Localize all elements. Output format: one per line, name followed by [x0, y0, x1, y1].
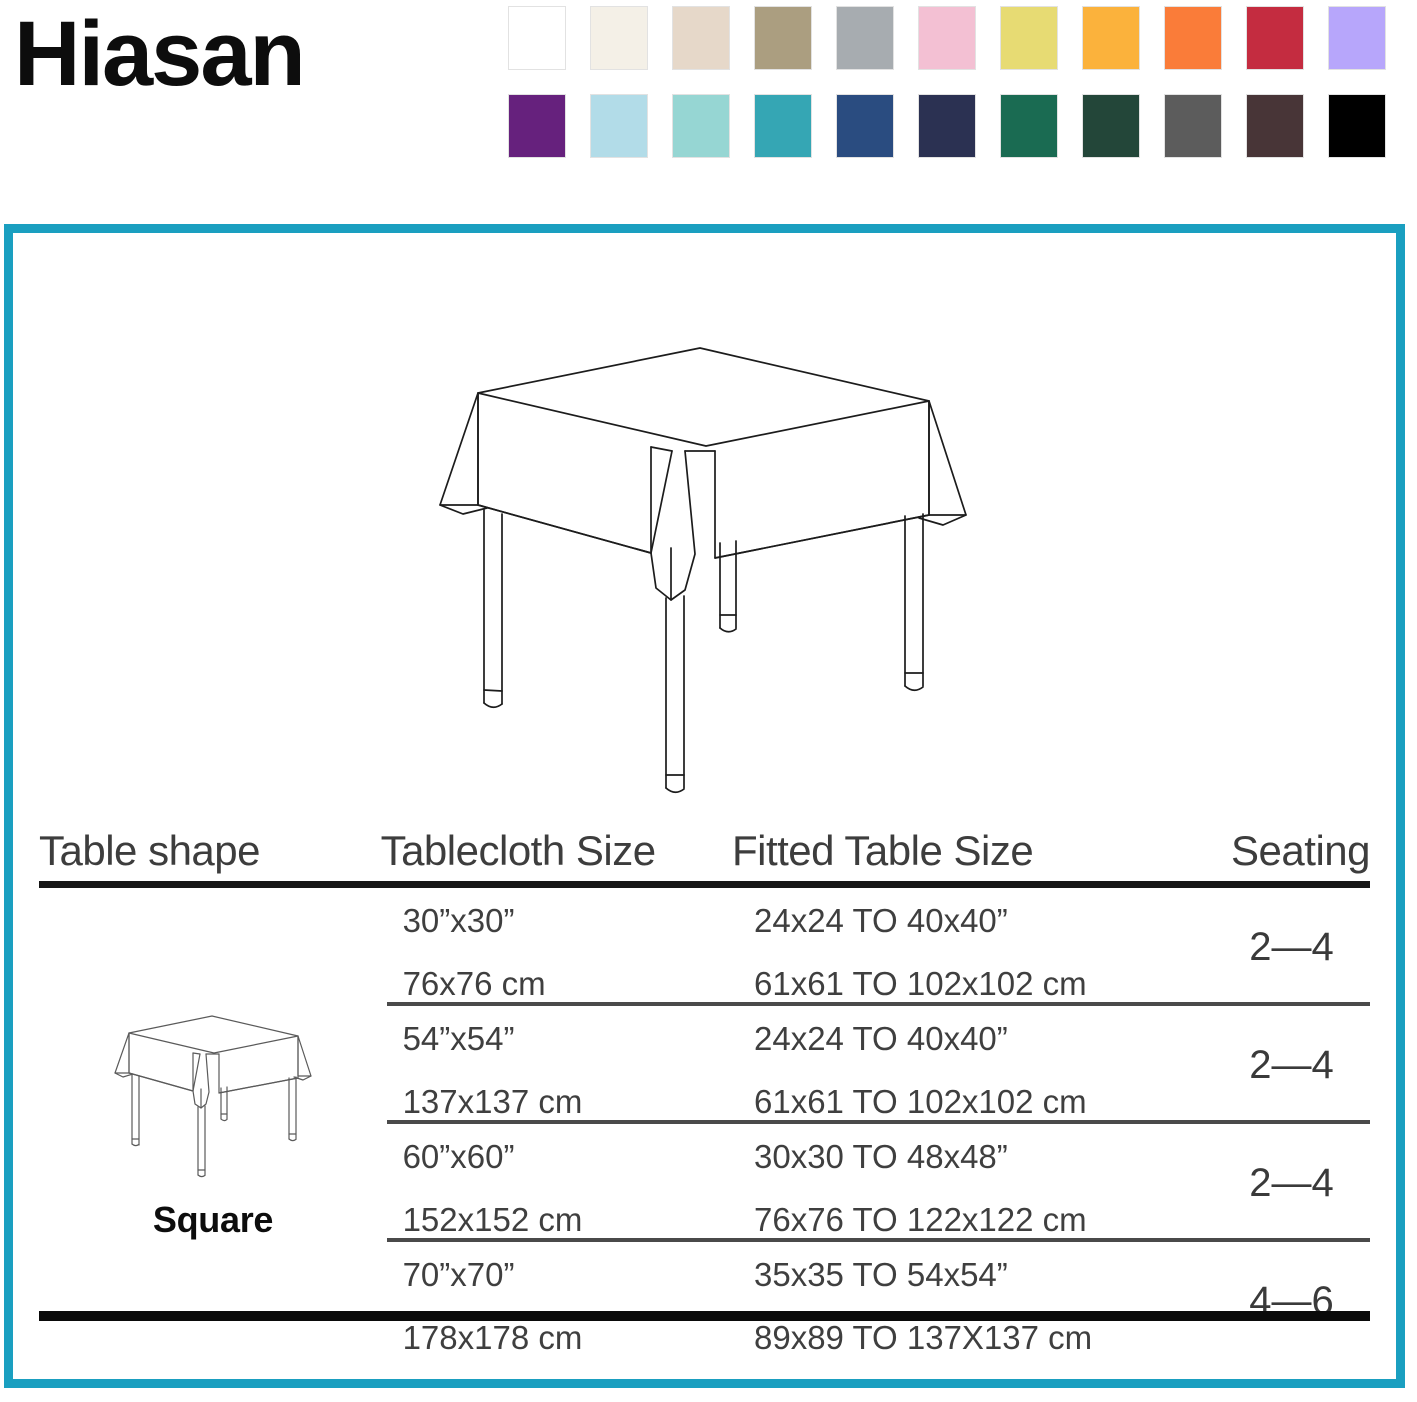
size-table: Table shape Tablecloth Size Fitted Table… [39, 813, 1370, 1360]
cell-fitted-table-size: 24x24 TO 40x40” 61x61 TO 102x102 cm [732, 1006, 1213, 1124]
swatch-row-1 [508, 6, 1408, 70]
swatch-emerald[interactable] [1000, 94, 1058, 158]
swatch-black[interactable] [1328, 94, 1386, 158]
swatch-white[interactable] [508, 6, 566, 70]
row-shape-spacer [39, 1006, 381, 1124]
fitted-size-cm: 61x61 TO 102x102 cm [732, 937, 1213, 1006]
cell-tablecloth-size: 30”x30” 76x76 cm [381, 888, 732, 1006]
swatch-dark-brown[interactable] [1246, 94, 1304, 158]
seating-value: 2—4 [1249, 925, 1334, 970]
fitted-size-inches: 35x35 TO 54x54” [732, 1242, 1213, 1291]
swatch-row-2 [508, 94, 1408, 158]
swatch-taupe[interactable] [754, 6, 812, 70]
fitted-size-inches: 30x30 TO 48x48” [732, 1124, 1213, 1173]
fitted-size-cm: 76x76 TO 122x122 cm [732, 1173, 1213, 1242]
swatch-dark-grey[interactable] [1164, 94, 1222, 158]
fitted-size-cm: 61x61 TO 102x102 cm [732, 1055, 1213, 1124]
top-band: Hiasan [0, 0, 1417, 200]
row-shape-spacer [39, 1242, 381, 1360]
header-seating: Seating [1213, 827, 1370, 875]
table-row: 30”x30” 76x76 cm 24x24 TO 40x40” 61x61 T… [39, 888, 1370, 1006]
swatch-beige[interactable] [672, 6, 730, 70]
header-divider [39, 881, 1370, 888]
swatch-orange[interactable] [1164, 6, 1222, 70]
cell-tablecloth-size: 54”x54” 137x137 cm [381, 1006, 732, 1124]
swatch-yellow[interactable] [1000, 6, 1058, 70]
table-bottom-divider [39, 1311, 1370, 1321]
fitted-size-inches: 24x24 TO 40x40” [732, 1006, 1213, 1055]
header-fitted-table-size: Fitted Table Size [732, 827, 1213, 875]
swatch-lavender[interactable] [1328, 6, 1386, 70]
header-tablecloth-size: Tablecloth Size [381, 827, 732, 875]
cell-seating: 4—6 [1213, 1242, 1370, 1360]
cell-seating: 2—4 [1213, 1124, 1370, 1242]
cell-fitted-table-size: 24x24 TO 40x40” 61x61 TO 102x102 cm [732, 888, 1213, 1006]
swatch-gold[interactable] [1082, 6, 1140, 70]
swatch-navy-blue[interactable] [836, 94, 894, 158]
swatch-aqua[interactable] [672, 94, 730, 158]
swatch-light-blue[interactable] [590, 94, 648, 158]
cell-seating: 2—4 [1213, 888, 1370, 1006]
fitted-size-inches: 24x24 TO 40x40” [732, 888, 1213, 937]
swatch-grey[interactable] [836, 6, 894, 70]
cell-seating: 2—4 [1213, 1006, 1370, 1124]
cloth-size-inches: 70”x70” [381, 1242, 732, 1291]
cloth-size-cm: 152x152 cm [381, 1173, 732, 1242]
swatch-dark-green[interactable] [1082, 94, 1140, 158]
table-body: Square 30”x30” 76x76 cm 24x24 TO 40x40” … [39, 888, 1370, 1360]
row-shape-spacer [39, 888, 381, 1006]
brand-logo: Hiasan [14, 8, 304, 100]
cloth-size-cm: 178x178 cm [381, 1291, 732, 1360]
square-table-illustration [423, 338, 983, 808]
table-row: 70”x70” 178x178 cm 35x35 TO 54x54” 89x89… [39, 1242, 1370, 1360]
color-swatch-grid [508, 6, 1408, 182]
table-row: 60”x60” 152x152 cm 30x30 TO 48x48” 76x76… [39, 1124, 1370, 1242]
cloth-size-inches: 60”x60” [381, 1124, 732, 1173]
swatch-dark-navy[interactable] [918, 94, 976, 158]
swatch-ivory[interactable] [590, 6, 648, 70]
swatch-teal[interactable] [754, 94, 812, 158]
fitted-size-cm: 89x89 TO 137X137 cm [732, 1291, 1213, 1360]
cell-fitted-table-size: 30x30 TO 48x48” 76x76 TO 122x122 cm [732, 1124, 1213, 1242]
cell-fitted-table-size: 35x35 TO 54x54” 89x89 TO 137X137 cm [732, 1242, 1213, 1360]
row-shape-spacer [39, 1124, 381, 1242]
header-table-shape: Table shape [39, 827, 381, 875]
cloth-size-inches: 54”x54” [381, 1006, 732, 1055]
table-row: 54”x54” 137x137 cm 24x24 TO 40x40” 61x61… [39, 1006, 1370, 1124]
swatch-purple[interactable] [508, 94, 566, 158]
cell-tablecloth-size: 70”x70” 178x178 cm [381, 1242, 732, 1360]
size-guide-panel: Table shape Tablecloth Size Fitted Table… [4, 224, 1405, 1388]
cloth-size-cm: 137x137 cm [381, 1055, 732, 1124]
swatch-pink[interactable] [918, 6, 976, 70]
seating-value: 2—4 [1249, 1043, 1334, 1088]
cell-tablecloth-size: 60”x60” 152x152 cm [381, 1124, 732, 1242]
seating-value: 2—4 [1249, 1161, 1334, 1206]
swatch-red[interactable] [1246, 6, 1304, 70]
cloth-size-cm: 76x76 cm [381, 937, 732, 1006]
cloth-size-inches: 30”x30” [381, 888, 732, 937]
table-header-row: Table shape Tablecloth Size Fitted Table… [39, 813, 1370, 875]
